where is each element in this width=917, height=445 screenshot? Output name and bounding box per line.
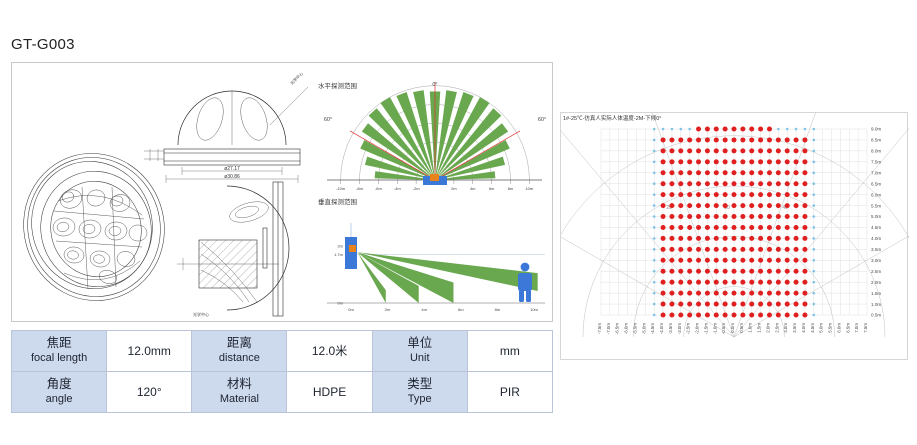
dotmap-x-label: -2.0m [695, 323, 700, 335]
axis-tick-label: -10m [336, 186, 346, 191]
detected-point [696, 192, 701, 197]
detected-point [740, 203, 745, 208]
detected-point [785, 269, 790, 274]
detected-point [705, 258, 710, 263]
detected-point [678, 203, 683, 208]
detected-point [723, 247, 728, 252]
undetected-point [813, 314, 816, 317]
undetected-point [653, 193, 656, 196]
detected-point [669, 214, 674, 219]
undetected-point [813, 292, 816, 295]
undetected-point [662, 128, 665, 131]
detected-point [705, 159, 710, 164]
detected-point [661, 225, 666, 230]
spec-label-en: focal length [14, 352, 104, 366]
detected-point [794, 291, 799, 296]
spec-value-cell: 120° [107, 372, 192, 413]
detected-point [785, 203, 790, 208]
detected-point [678, 181, 683, 186]
detected-point [661, 258, 666, 263]
detected-point [696, 313, 701, 318]
vertical-range-caption: 垂直探测范围 [318, 196, 357, 206]
detected-point [732, 269, 737, 274]
detected-point [669, 148, 674, 153]
detected-point [696, 214, 701, 219]
undetected-point [813, 204, 816, 207]
detected-point [661, 291, 666, 296]
spec-label-cn: 焦距 [14, 336, 104, 352]
dotmap-x-label: 1.5m [757, 323, 762, 333]
detected-point [740, 137, 745, 142]
detected-point [687, 170, 692, 175]
detected-point [705, 192, 710, 197]
detected-point [678, 258, 683, 263]
undetected-point [653, 248, 656, 251]
detected-point [669, 170, 674, 175]
detected-point [678, 302, 683, 307]
detected-point [802, 181, 807, 186]
detected-point [687, 181, 692, 186]
detected-point [678, 148, 683, 153]
undetected-point [804, 128, 807, 131]
detected-point [687, 225, 692, 230]
detected-point [740, 159, 745, 164]
spec-table-row: 焦距focal length12.0mm距离distance12.0米单位Uni… [12, 331, 553, 372]
detected-point [723, 192, 728, 197]
spec-value-cell: 12.0米 [287, 331, 372, 372]
vert-x-label: 6m [458, 307, 464, 312]
detected-point [767, 269, 772, 274]
vert-x-label: 2m [385, 307, 391, 312]
spec-label-cn: 材料 [194, 377, 284, 393]
detected-point [740, 313, 745, 318]
detected-point [785, 291, 790, 296]
detected-point [732, 247, 737, 252]
detected-point [669, 269, 674, 274]
detected-point [678, 214, 683, 219]
detected-point [749, 148, 754, 153]
detected-point [669, 258, 674, 263]
detected-point [767, 247, 772, 252]
detected-point [785, 247, 790, 252]
spec-label-cell: 距离distance [192, 331, 287, 372]
detected-point [776, 214, 781, 219]
dotmap-x-label: 2.0m [765, 323, 770, 333]
detected-point [696, 137, 701, 142]
detected-point [794, 313, 799, 318]
detected-point [749, 313, 754, 318]
detected-point [705, 236, 710, 241]
detected-point [802, 313, 807, 318]
detected-point [732, 214, 737, 219]
detected-point [678, 137, 683, 142]
detected-point [687, 192, 692, 197]
detected-point [749, 225, 754, 230]
detected-point [705, 137, 710, 142]
sensor-lens-side [349, 245, 356, 252]
detected-point [661, 247, 666, 252]
axis-tick-label: 6m [489, 186, 495, 191]
detected-point [785, 236, 790, 241]
detected-point [696, 225, 701, 230]
detected-point [785, 170, 790, 175]
detected-point [732, 280, 737, 285]
undetected-point [813, 193, 816, 196]
detection-dotmap-panel: 203040 0.5m1.0m1.5m2.0m2.5m3.0m3.5m4.0m4… [560, 112, 908, 360]
detected-point [696, 280, 701, 285]
detected-point [749, 258, 754, 263]
detected-point [732, 225, 737, 230]
spec-label-cell: 单位Unit [372, 331, 467, 372]
dotmap-y-label: 5.5m [871, 203, 881, 208]
detected-point [767, 137, 772, 142]
detected-point [740, 181, 745, 186]
detected-point [661, 269, 666, 274]
undetected-point [813, 281, 816, 284]
detected-point [802, 148, 807, 153]
detected-point [749, 137, 754, 142]
undetected-point [653, 171, 656, 174]
dotmap-x-label: 0.5m [739, 323, 744, 333]
detected-point [767, 236, 772, 241]
detected-point [758, 313, 763, 318]
dotmap-x-label: 7.0m [854, 323, 859, 333]
dotmap-x-label: -7.5m [597, 323, 602, 335]
detected-point [749, 280, 754, 285]
undetected-point [813, 303, 816, 306]
detected-point [732, 127, 737, 132]
detected-point [785, 302, 790, 307]
detected-point [661, 148, 666, 153]
detected-point [776, 313, 781, 318]
detected-point [669, 302, 674, 307]
detected-point [705, 203, 710, 208]
detected-point [661, 236, 666, 241]
detected-point [723, 225, 728, 230]
detected-point [723, 181, 728, 186]
detected-point [732, 302, 737, 307]
detected-point [767, 127, 772, 132]
detected-point [723, 302, 728, 307]
detected-point [705, 291, 710, 296]
detected-point [723, 148, 728, 153]
dotmap-x-label: -3.5m [668, 323, 673, 335]
detected-point [723, 137, 728, 142]
detected-point [732, 170, 737, 175]
detected-point [794, 159, 799, 164]
detected-point [723, 170, 728, 175]
detected-point [661, 137, 666, 142]
detected-point [669, 181, 674, 186]
detected-point [776, 170, 781, 175]
detected-point [705, 181, 710, 186]
detected-point [678, 291, 683, 296]
undetected-point [653, 314, 656, 317]
undetected-point [813, 139, 816, 142]
undetected-point [653, 270, 656, 273]
detected-point [767, 313, 772, 318]
dotmap-x-label: 4.0m [801, 323, 806, 333]
detected-point [749, 302, 754, 307]
detected-point [785, 280, 790, 285]
polar-angle-label: 60° [324, 117, 332, 123]
detected-point [794, 214, 799, 219]
detected-point [802, 291, 807, 296]
detected-point [758, 181, 763, 186]
detected-point [767, 181, 772, 186]
detected-point [802, 247, 807, 252]
horizontal-detection-polar-chart: -10m-8m-6m-4m-2m2m4m6m8m10m 0°60°60° [317, 77, 552, 197]
detected-point [749, 159, 754, 164]
spec-label-cn: 距离 [194, 336, 284, 352]
polar-angle-label: 60° [538, 117, 546, 123]
detected-point [732, 159, 737, 164]
detected-point [696, 159, 701, 164]
undetected-point [813, 259, 816, 262]
spec-value-cell: PIR [467, 372, 552, 413]
dotmap-x-label: 7.5m [863, 323, 868, 333]
spec-value-cell: 12.0mm [107, 331, 192, 372]
dim-inner-diameter: ø27.17 [224, 166, 240, 172]
dotmap-y-label: 4.0m [871, 236, 881, 241]
detected-point [696, 170, 701, 175]
spec-label-cell: 类型Type [372, 372, 467, 413]
dotmap-x-label: -3.0m [677, 323, 682, 335]
detected-point [740, 258, 745, 263]
detected-point [696, 203, 701, 208]
detected-point [714, 313, 719, 318]
detected-point [776, 203, 781, 208]
detected-point [740, 236, 745, 241]
detected-point [794, 170, 799, 175]
detected-point [687, 159, 692, 164]
dotmap-x-label: 5.5m [828, 323, 833, 333]
undetected-point [813, 226, 816, 229]
dotmap-y-label: 6.0m [871, 192, 881, 197]
dotmap-x-label: -4.5m [650, 323, 655, 335]
detected-point [723, 291, 728, 296]
detected-point [723, 203, 728, 208]
detected-point [740, 148, 745, 153]
detected-point [740, 291, 745, 296]
detected-point [678, 280, 683, 285]
spec-label-cn: 单位 [375, 336, 465, 352]
undetected-point [688, 128, 691, 131]
detected-point [758, 247, 763, 252]
detected-point [696, 247, 701, 252]
detected-point [767, 280, 772, 285]
dotmap-y-label: 2.5m [871, 269, 881, 274]
dotmap-y-label: 1.5m [871, 291, 881, 296]
detected-point [696, 291, 701, 296]
dotmap-y-label: 7.0m [871, 170, 881, 175]
detected-point [714, 127, 719, 132]
detected-point [776, 159, 781, 164]
detected-point [723, 280, 728, 285]
detected-point [714, 236, 719, 241]
detected-point [776, 181, 781, 186]
detected-point [758, 225, 763, 230]
axis-tick-label: -2m [413, 186, 421, 191]
detected-point [669, 291, 674, 296]
detected-point [794, 137, 799, 142]
detected-point [687, 247, 692, 252]
axis-tick-label: -6m [375, 186, 383, 191]
dotmap-x-label: 1.0m [748, 323, 753, 333]
detected-point [758, 203, 763, 208]
spec-value-cell: HDPE [287, 372, 372, 413]
dotmap-x-label: 3.5m [792, 323, 797, 333]
spec-label-cell: 材料Material [192, 372, 287, 413]
undetected-point [653, 259, 656, 262]
detected-point [802, 225, 807, 230]
undetected-point [680, 128, 683, 131]
detected-point [767, 258, 772, 263]
undetected-point [813, 248, 816, 251]
dotmap-x-label: 4.5m [810, 323, 815, 333]
specification-table: 焦距focal length12.0mm距离distance12.0米单位Uni… [11, 330, 553, 413]
undetected-point [786, 128, 789, 131]
detected-point [776, 236, 781, 241]
detected-point [749, 181, 754, 186]
detected-point [802, 236, 807, 241]
detected-point [776, 258, 781, 263]
wall-mount-sensor [345, 237, 357, 269]
spec-label-cell: 角度angle [12, 372, 107, 413]
axis-tick-label: 2m [451, 186, 457, 191]
undetected-point [653, 182, 656, 185]
undetected-point [813, 270, 816, 273]
detected-point [669, 280, 674, 285]
detected-point [732, 291, 737, 296]
undetected-point [777, 128, 780, 131]
polar-angle-label: 0° [432, 82, 437, 88]
detected-point [732, 236, 737, 241]
undetected-point [653, 204, 656, 207]
detected-point [705, 148, 710, 153]
undetected-point [813, 237, 816, 240]
undetected-point [671, 128, 674, 131]
spec-table-row: 角度angle120°材料MaterialHDPE类型TypePIR [12, 372, 553, 413]
undetected-point [653, 281, 656, 284]
detected-point [758, 236, 763, 241]
dotmap-y-label: 3.5m [871, 247, 881, 252]
detected-point [758, 280, 763, 285]
detected-point [714, 269, 719, 274]
detected-point [776, 302, 781, 307]
detected-point [776, 192, 781, 197]
dotmap-x-label: -5.5m [632, 323, 637, 335]
dotmap-x-label: -5.0m [641, 323, 646, 335]
detected-point [696, 181, 701, 186]
detected-point [678, 192, 683, 197]
detected-point [687, 313, 692, 318]
detected-point [732, 258, 737, 263]
dotmap-x-label: 6.0m [836, 323, 841, 333]
spec-label-en: distance [194, 352, 284, 366]
detected-point [794, 280, 799, 285]
dotmap-y-label: 9.0m [871, 127, 881, 132]
detected-point [687, 236, 692, 241]
dotmap-x-label: -0.5m [721, 323, 726, 335]
detected-point [749, 192, 754, 197]
detected-point [696, 127, 701, 132]
detected-point [802, 214, 807, 219]
dotmap-x-label: -1.5m [703, 323, 708, 335]
detected-point [669, 313, 674, 318]
dotmap-y-label: 8.0m [871, 149, 881, 154]
dotmap-x-label: 2.5m [774, 323, 779, 333]
detected-point [740, 269, 745, 274]
undetected-point [813, 150, 816, 153]
detected-point [767, 214, 772, 219]
detected-point [661, 170, 666, 175]
detected-point [767, 148, 772, 153]
detected-point [732, 137, 737, 142]
axis-tick-label: -4m [394, 186, 402, 191]
detected-point [669, 225, 674, 230]
detected-point [794, 258, 799, 263]
lens-side-section-drawing: 光学中心 [177, 178, 317, 323]
vert-y-label: 2m [337, 244, 343, 249]
vert-y-label: 1.7m [334, 252, 344, 257]
dotmap-y-label: 6.5m [871, 181, 881, 186]
detected-point [802, 203, 807, 208]
undetected-point [813, 182, 816, 185]
detected-point [696, 148, 701, 153]
vert-x-label: 0m [348, 307, 354, 312]
detected-point [714, 181, 719, 186]
dotmap-x-label: -7.0m [606, 323, 611, 335]
detected-point [767, 170, 772, 175]
undetected-point [653, 215, 656, 218]
page-title: GT-G003 [11, 36, 75, 53]
dotmap-x-label: 5.0m [819, 323, 824, 333]
dotmap-y-label: 8.5m [871, 138, 881, 143]
detected-point [723, 159, 728, 164]
detected-point [794, 247, 799, 252]
detected-point [678, 225, 683, 230]
detected-point [723, 214, 728, 219]
detected-point [661, 159, 666, 164]
detected-point [794, 302, 799, 307]
detected-point [714, 159, 719, 164]
detected-point [758, 269, 763, 274]
detected-point [767, 192, 772, 197]
detected-point [661, 192, 666, 197]
detected-point [705, 302, 710, 307]
spec-value-cell: mm [467, 331, 552, 372]
detected-point [740, 302, 745, 307]
detected-point [732, 313, 737, 318]
detected-point [767, 302, 772, 307]
detected-point [767, 203, 772, 208]
detected-point [696, 236, 701, 241]
detected-point [661, 214, 666, 219]
detected-point [661, 302, 666, 307]
detected-point [802, 159, 807, 164]
detected-point [669, 236, 674, 241]
detected-point [758, 148, 763, 153]
detected-point [785, 313, 790, 318]
undetected-point [653, 237, 656, 240]
undetected-point [653, 128, 656, 131]
detected-point [758, 170, 763, 175]
detected-point [723, 127, 728, 132]
detected-point [723, 236, 728, 241]
detected-point [687, 302, 692, 307]
detected-point [732, 181, 737, 186]
